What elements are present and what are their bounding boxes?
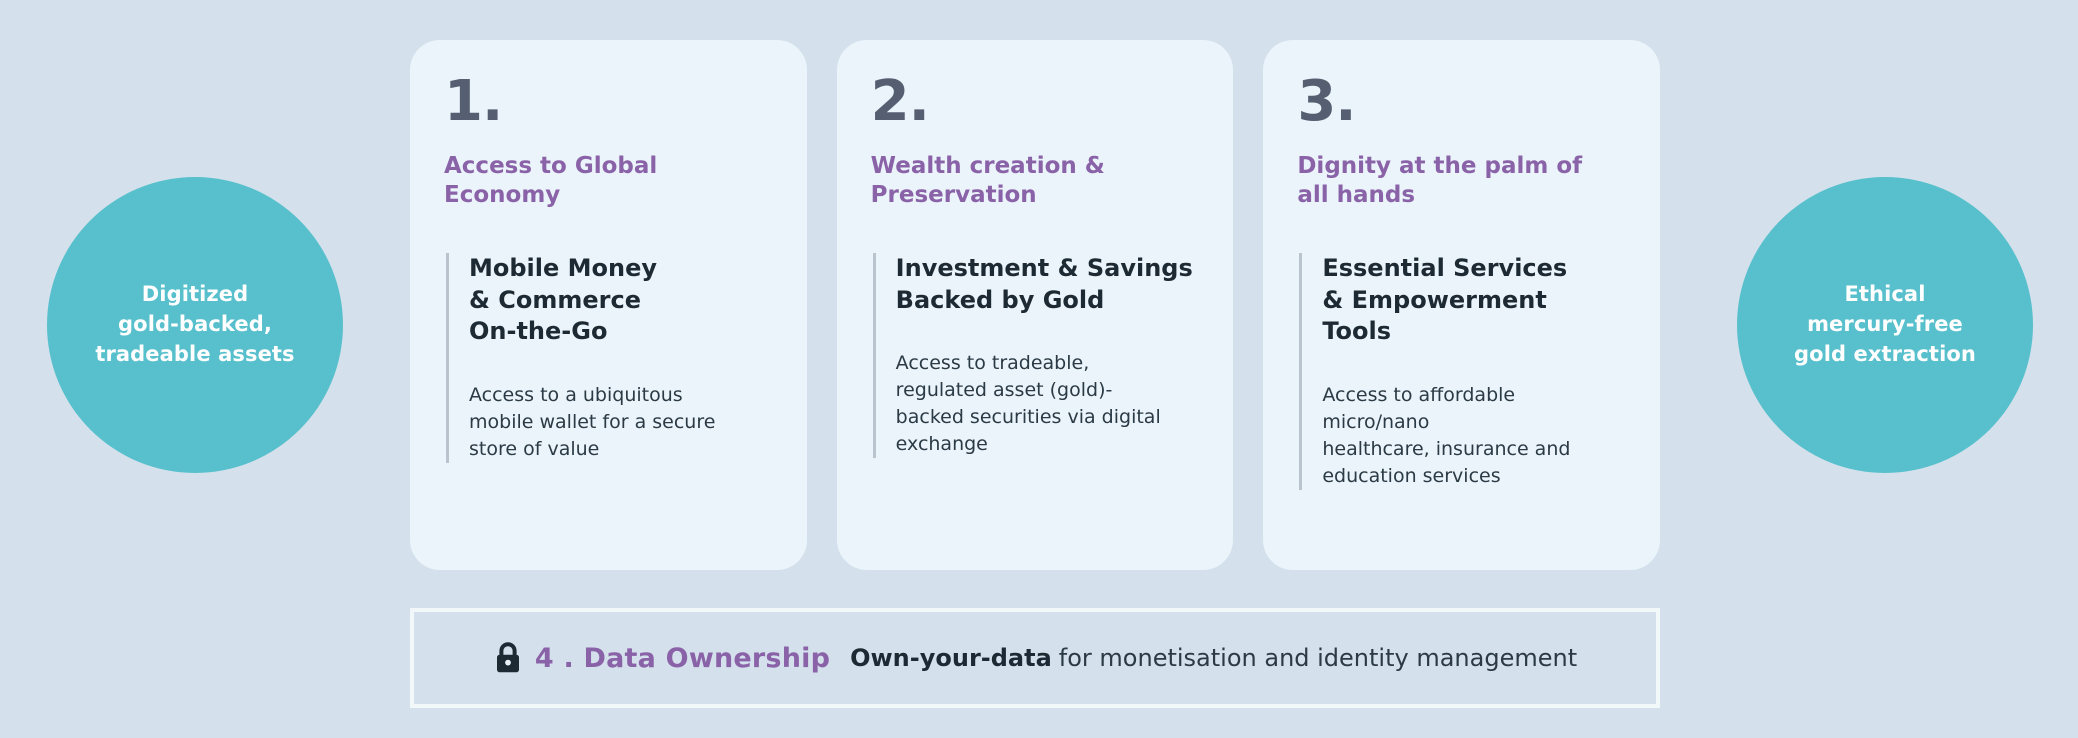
card-body: Essential Services & Empowerment Tools A… bbox=[1299, 253, 1622, 490]
card-description: Access to affordable micro/nano healthca… bbox=[1322, 382, 1622, 490]
card-subtitle: Access to Global Economy bbox=[444, 152, 769, 211]
banner-number-label: 4 . Data Ownership bbox=[535, 643, 830, 674]
card-number: 1. bbox=[444, 74, 769, 130]
card-description: Access to a ubiquitous mobile wallet for… bbox=[469, 382, 769, 463]
card-heading: Essential Services & Empowerment Tools bbox=[1322, 253, 1622, 348]
card-body: Mobile Money & Commerce On-the-Go Access… bbox=[446, 253, 769, 463]
card-subtitle: Dignity at the palm of all hands bbox=[1297, 152, 1622, 211]
card-heading: Mobile Money & Commerce On-the-Go bbox=[469, 253, 769, 348]
card-number: 3. bbox=[1297, 74, 1622, 130]
right-circle-text: Ethical mercury-free gold extraction bbox=[1794, 280, 1976, 369]
banner-strong-text: Own-your-data bbox=[850, 644, 1052, 672]
card-body: Investment & Savings Backed by Gold Acce… bbox=[873, 253, 1196, 458]
data-ownership-banner[interactable]: 4 . Data Ownership Own-your-data for mon… bbox=[410, 608, 1660, 708]
left-circle-badge: Digitized gold-backed, tradeable assets bbox=[47, 177, 343, 473]
card-subtitle: Wealth creation & Preservation bbox=[871, 152, 1196, 211]
pillar-card-1[interactable]: 1. Access to Global Economy Mobile Money… bbox=[410, 40, 807, 570]
pillar-cards-row: 1. Access to Global Economy Mobile Money… bbox=[410, 40, 1660, 570]
left-circle-text: Digitized gold-backed, tradeable assets bbox=[95, 280, 294, 369]
right-circle-badge: Ethical mercury-free gold extraction bbox=[1737, 177, 2033, 473]
card-heading: Investment & Savings Backed by Gold bbox=[896, 253, 1196, 316]
banner-rest-text: for monetisation and identity management bbox=[1059, 644, 1577, 672]
pillar-card-3[interactable]: 3. Dignity at the palm of all hands Esse… bbox=[1263, 40, 1660, 570]
lock-icon bbox=[493, 641, 523, 675]
card-description: Access to tradeable, regulated asset (go… bbox=[896, 350, 1196, 458]
card-number: 2. bbox=[871, 74, 1196, 130]
pillar-card-2[interactable]: 2. Wealth creation & Preservation Invest… bbox=[837, 40, 1234, 570]
